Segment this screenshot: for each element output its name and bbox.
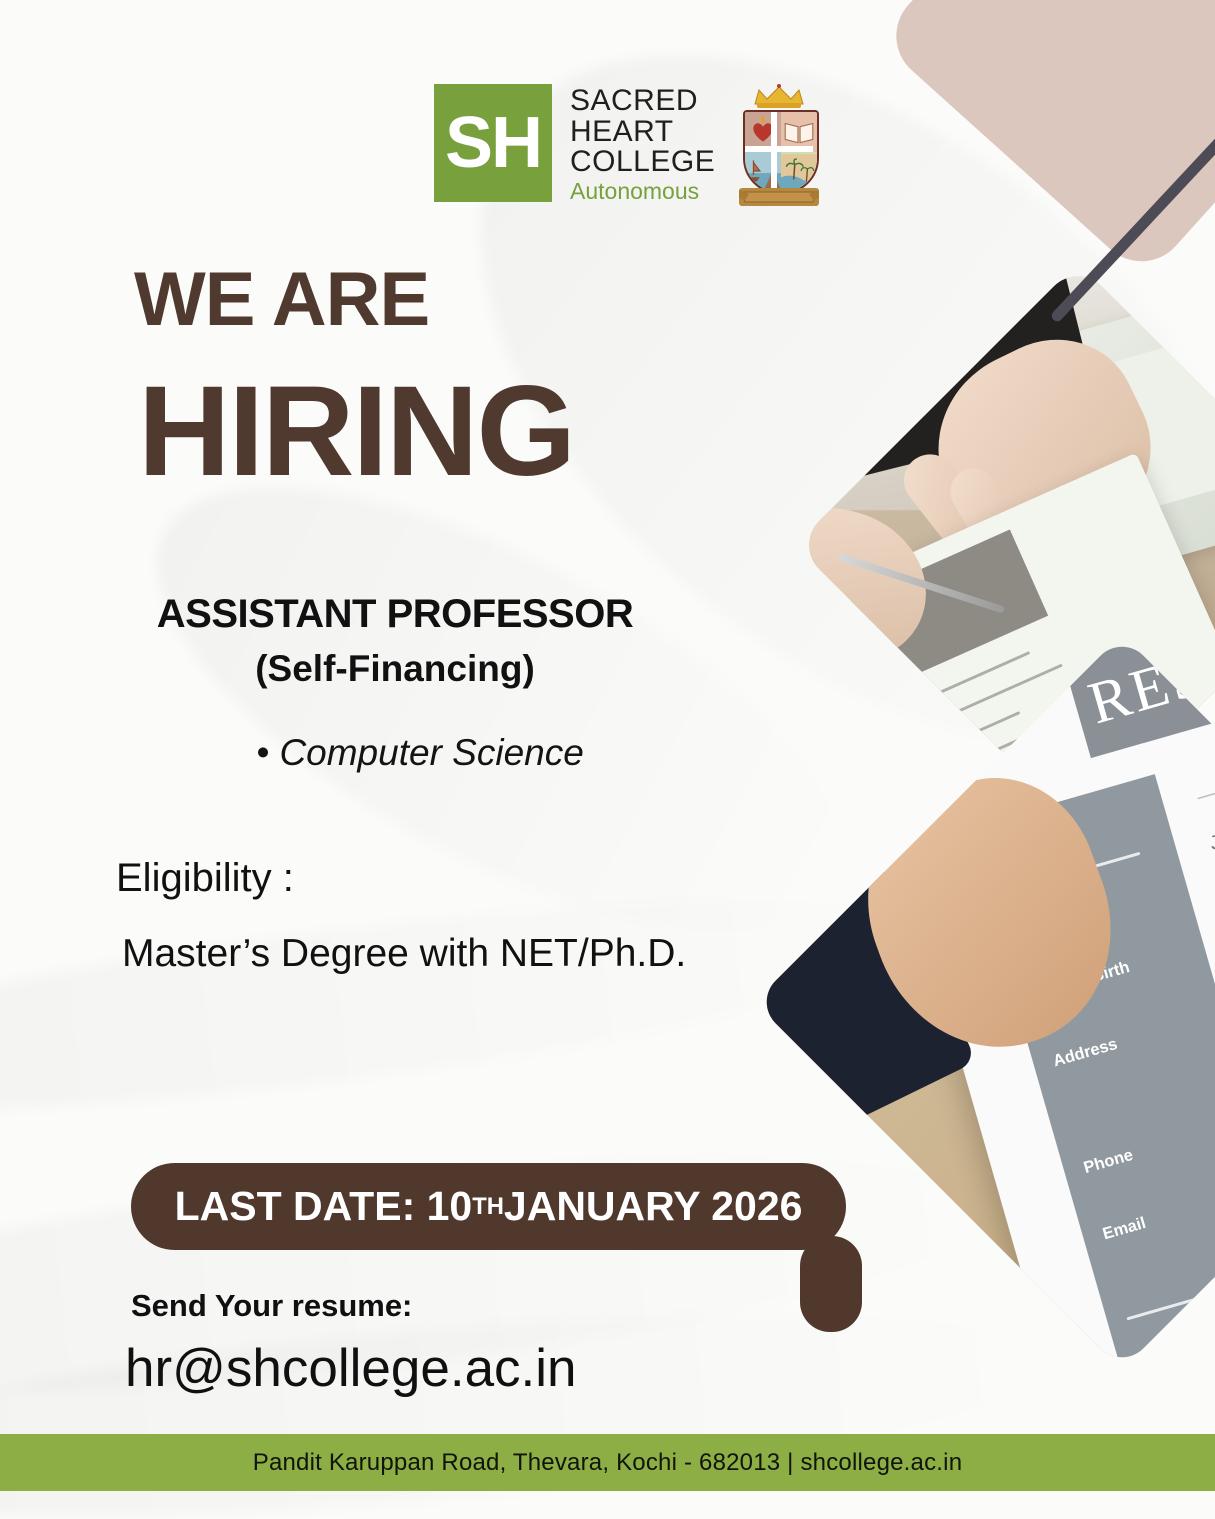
last-date-banner: LAST DATE: 10TH JANUARY 2026 <box>131 1163 846 1250</box>
position-subtitle: (Self-Financing) <box>0 648 790 690</box>
college-logo: SH SACRED HEART COLLEGE Autonomous <box>434 84 821 214</box>
crest-banner <box>739 188 819 206</box>
resume-field-label: Phone <box>1081 1146 1134 1177</box>
decorative-pill-shape <box>800 1236 862 1332</box>
headline-line-1: WE ARE <box>134 262 429 338</box>
resume-section-label: JOB EXPERIENCE <box>1206 780 1215 854</box>
logo-wordmark: SACRED HEART COLLEGE Autonomous <box>570 84 715 203</box>
hiring-poster: RESUME PROFILE Name Date of Birth Addres… <box>0 0 1215 1519</box>
subject-label: Computer Science <box>279 732 583 773</box>
position-title: ASSISTANT PROFESSOR <box>0 592 790 637</box>
resume-field-label: Address <box>1050 1035 1118 1071</box>
logo-name-line-3: COLLEGE <box>570 147 715 178</box>
crest-cross-horizontal <box>745 146 813 152</box>
last-date-ordinal: TH <box>472 1193 504 1221</box>
crown-icon <box>753 84 805 110</box>
headline-line-2: HIRING <box>138 368 574 496</box>
college-crest-icon <box>737 84 821 214</box>
send-resume-label: Send Your resume: <box>131 1288 412 1324</box>
logo-name-line-2: HEART <box>570 117 715 148</box>
palm-landscape-icon <box>781 152 817 192</box>
footer-bar: Pandit Karuppan Road, Thevara, Kochi - 6… <box>0 1434 1215 1491</box>
last-date-suffix: JANUARY 2026 <box>504 1183 803 1230</box>
subject-list-item: • Computer Science <box>0 732 840 774</box>
logo-name-line-1: SACRED <box>570 86 715 117</box>
logo-tagline: Autonomous <box>570 180 715 203</box>
resume-field-label: Email <box>1100 1215 1147 1244</box>
logo-monogram-text: SH <box>445 107 541 179</box>
logo-monogram: SH <box>434 84 552 202</box>
footer-address-text: Pandit Karuppan Road, Thevara, Kochi - 6… <box>253 1449 963 1477</box>
eligibility-value: Master’s Degree with NET/Ph.D. <box>122 932 686 976</box>
eligibility-label: Eligibility : <box>116 856 294 901</box>
last-date-prefix: LAST DATE: 10 <box>175 1183 473 1230</box>
contact-email[interactable]: hr@shcollege.ac.in <box>125 1338 577 1399</box>
shield-icon <box>743 110 819 194</box>
decorative-rounded-rectangle <box>877 0 1215 280</box>
bullet-icon: • <box>256 732 269 773</box>
